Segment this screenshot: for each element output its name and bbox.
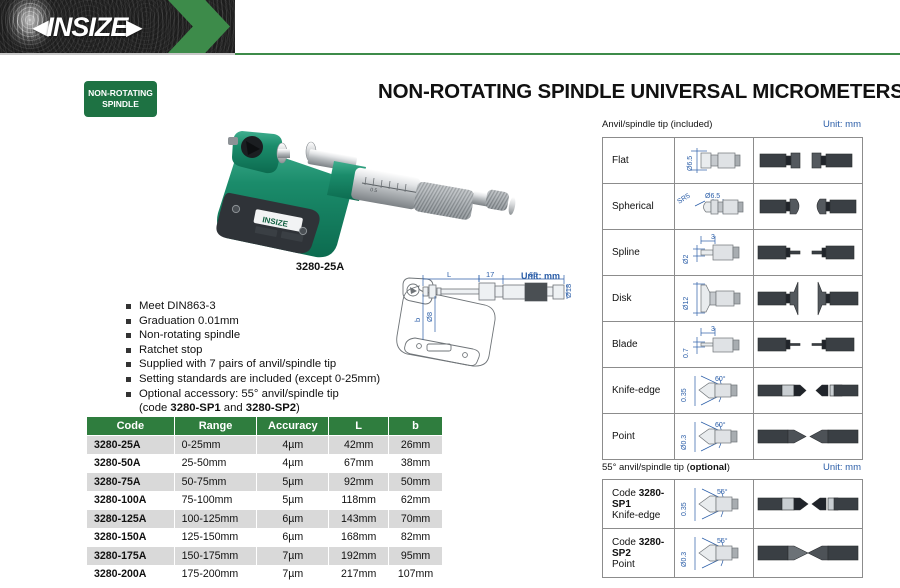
logo-wordmark: INSIZE bbox=[46, 12, 127, 43]
cell-accuracy: 4µm bbox=[257, 454, 329, 473]
list-item: Setting standards are included (except 0… bbox=[126, 372, 396, 387]
optional-accessory-line1: Optional accessory: 55° anvil/spindle ti… bbox=[139, 388, 339, 400]
knife-edge-tip-pair-icon bbox=[754, 368, 862, 413]
tip-name: Flat bbox=[603, 138, 675, 184]
tip-dimension-drawing: Ø0.3 55° bbox=[675, 529, 754, 578]
code-prefix: Code bbox=[612, 488, 639, 499]
micrometer-dimension-diagram: L 17 66 b Ø8 Ø18 bbox=[395, 270, 575, 375]
tip-pair-drawing bbox=[754, 322, 863, 368]
cell-accuracy: 5µm bbox=[257, 491, 329, 510]
tips-optional-heading: 55° anvil/spindle tip (optional) bbox=[602, 462, 730, 473]
tip-pair-drawing bbox=[754, 414, 863, 460]
cell-l: 92mm bbox=[329, 473, 389, 492]
tips-included-heading: Anvil/spindle tip (included) bbox=[602, 119, 712, 130]
cell-b: 26mm bbox=[389, 436, 443, 455]
tip-pair-drawing bbox=[754, 230, 863, 276]
tip-name: Spline bbox=[603, 230, 675, 276]
table-header-row: Code Range Accuracy L b bbox=[87, 417, 443, 436]
tips-included-table: Flat Ø6.5 bbox=[602, 137, 863, 460]
dim-label-dia18: Ø18 bbox=[564, 284, 573, 298]
cell-b: 62mm bbox=[389, 491, 443, 510]
cell-b: 38mm bbox=[389, 454, 443, 473]
tip-row-spherical: Spherical SR5 Ø6.5 bbox=[603, 184, 863, 230]
tips-optional-heading-bold: optional bbox=[690, 462, 727, 473]
table-row: 3280-175A 150-175mm 7µm 192mm 95mm bbox=[87, 547, 443, 566]
tip-row-knife-edge: Knife-edge 0.35 60° bbox=[603, 368, 863, 414]
tip-pair-drawing bbox=[754, 184, 863, 230]
cell-accuracy: 7µm bbox=[257, 565, 329, 584]
disk-tip-pair-icon bbox=[754, 276, 862, 321]
code-sp1: 3280-SP1 bbox=[170, 402, 220, 414]
cell-range: 50-75mm bbox=[174, 473, 257, 492]
tip-code-and-name: Code 3280-SP2 Point bbox=[603, 529, 675, 578]
cell-code: 3280-50A bbox=[87, 454, 175, 473]
spline-tip-dimension-icon: 3 Ø2 bbox=[675, 230, 753, 275]
cell-l: 192mm bbox=[329, 547, 389, 566]
header-gray-rule bbox=[0, 53, 235, 55]
list-item: Graduation 0.01mm bbox=[126, 314, 396, 329]
cell-b: 95mm bbox=[389, 547, 443, 566]
tip-dimension-drawing: 0.35 60° bbox=[675, 368, 754, 414]
tip-code-and-name: Code 3280-SP1 Knife-edge bbox=[603, 480, 675, 529]
dim-text: 0.35 bbox=[681, 502, 688, 516]
tips-optional-heading-post: ) bbox=[727, 462, 730, 473]
tips-included-unit: Unit: mm bbox=[823, 119, 861, 130]
dim-text-2: 3 bbox=[711, 234, 715, 241]
point-tip-pair-icon bbox=[754, 414, 862, 459]
disk-tip-dimension-icon: Ø12 bbox=[675, 276, 753, 321]
table-row: 3280-25A 0-25mm 4µm 42mm 26mm bbox=[87, 436, 443, 455]
dim-label-dia8: Ø8 bbox=[425, 312, 434, 322]
tip-name: Point bbox=[603, 414, 675, 460]
optional-tip-row-sp1: Code 3280-SP1 Knife-edge 0.35 55° bbox=[603, 480, 863, 529]
cell-accuracy: 4µm bbox=[257, 436, 329, 455]
badge-line-1: NON-ROTATING bbox=[88, 88, 153, 99]
page-title: NON-ROTATING SPINDLE UNIVERSAL MICROMETE… bbox=[378, 80, 900, 104]
cell-accuracy: 5µm bbox=[257, 473, 329, 492]
cell-l: 168mm bbox=[329, 528, 389, 547]
column-header-l: L bbox=[329, 417, 389, 436]
flat-tip-pair-icon bbox=[754, 138, 862, 183]
column-header-code: Code bbox=[87, 417, 175, 436]
dim-text-2: Ø6.5 bbox=[705, 193, 720, 200]
tip-row-blade: Blade 3 0.7 bbox=[603, 322, 863, 368]
cell-range: 75-100mm bbox=[174, 491, 257, 510]
tip-dimension-drawing: 0.35 55° bbox=[675, 480, 754, 529]
spherical-tip-pair-icon bbox=[754, 184, 862, 229]
insize-logo: ◀INSIZE▶ bbox=[33, 12, 141, 43]
tip-row-disk: Disk Ø12 bbox=[603, 276, 863, 322]
page-header: ◀INSIZE▶ bbox=[0, 0, 900, 56]
cell-accuracy: 7µm bbox=[257, 547, 329, 566]
tip-name: Knife-edge bbox=[603, 368, 675, 414]
list-item: Meet DIN863-3 bbox=[126, 299, 396, 314]
cell-range: 100-125mm bbox=[174, 510, 257, 529]
dim-text: Ø0.3 bbox=[681, 552, 688, 567]
knife-edge-tip-dimension-icon: 0.35 60° bbox=[675, 368, 753, 413]
blade-tip-pair-icon bbox=[754, 322, 862, 367]
flat-tip-dimension-icon: Ø6.5 bbox=[675, 138, 753, 183]
table-row: 3280-100A 75-100mm 5µm 118mm 62mm bbox=[87, 491, 443, 510]
cell-l: 143mm bbox=[329, 510, 389, 529]
dimension-drawing: L 17 66 b Ø8 Ø18 bbox=[395, 270, 575, 375]
code-sp2: 3280-SP2 bbox=[246, 402, 296, 414]
dim-label-17: 17 bbox=[486, 270, 494, 279]
table-row: 3280-50A 25-50mm 4µm 67mm 38mm bbox=[87, 454, 443, 473]
sp2-point-dimension-icon: Ø0.3 55° bbox=[675, 529, 753, 577]
table-row: 3280-75A 50-75mm 5µm 92mm 50mm bbox=[87, 473, 443, 492]
tip-pair-drawing bbox=[754, 480, 863, 529]
product-photo: INSIZE 0 5 bbox=[190, 105, 580, 265]
svg-text:0 5: 0 5 bbox=[370, 187, 378, 194]
dim-text: Ø2 bbox=[683, 255, 690, 264]
tip-dimension-drawing: Ø6.5 bbox=[675, 138, 754, 184]
sp1-knife-edge-dimension-icon: 0.35 55° bbox=[675, 480, 753, 528]
code-suffix: ) bbox=[296, 402, 300, 414]
logo-right-arrow-icon: ▶ bbox=[126, 15, 140, 40]
optional-accessory-line2: (code 3280-SP1 and 3280-SP2) bbox=[139, 402, 300, 414]
list-item: Non-rotating spindle bbox=[126, 328, 396, 343]
feature-list: Meet DIN863-3 Graduation 0.01mm Non-rota… bbox=[86, 299, 396, 416]
tip-row-point: Point Ø0.3 60° bbox=[603, 414, 863, 460]
column-header-accuracy: Accuracy bbox=[257, 417, 329, 436]
spherical-tip-dimension-icon: SR5 Ø6.5 bbox=[675, 184, 753, 229]
cell-b: 82mm bbox=[389, 528, 443, 547]
cell-code: 3280-125A bbox=[87, 510, 175, 529]
dim-label-b: b bbox=[413, 318, 422, 322]
list-item: Ratchet stop bbox=[126, 343, 396, 358]
tip-row-flat: Flat Ø6.5 bbox=[603, 138, 863, 184]
cell-code: 3280-200A bbox=[87, 565, 175, 584]
cell-accuracy: 6µm bbox=[257, 510, 329, 529]
dim-text: 0.7 bbox=[683, 348, 690, 358]
cell-range: 25-50mm bbox=[174, 454, 257, 473]
table-row: 3280-125A 100-125mm 6µm 143mm 70mm bbox=[87, 510, 443, 529]
sp2-point-pair-icon bbox=[754, 529, 862, 577]
dim-text: 0.35 bbox=[681, 388, 688, 402]
cell-l: 42mm bbox=[329, 436, 389, 455]
tip-pair-drawing bbox=[754, 529, 863, 578]
cell-b: 107mm bbox=[389, 565, 443, 584]
tips-optional-heading-pre: 55° anvil/spindle tip ( bbox=[602, 462, 690, 473]
cell-code: 3280-25A bbox=[87, 436, 175, 455]
dim-text: Ø12 bbox=[683, 297, 690, 310]
cell-b: 50mm bbox=[389, 473, 443, 492]
code-conjunction: and bbox=[221, 402, 246, 414]
cell-code: 3280-175A bbox=[87, 547, 175, 566]
tip-dimension-drawing: Ø12 bbox=[675, 276, 754, 322]
tip-row-spline: Spline 3 Ø2 bbox=[603, 230, 863, 276]
tip-name: Point bbox=[612, 559, 635, 570]
tip-pair-drawing bbox=[754, 276, 863, 322]
cell-range: 0-25mm bbox=[174, 436, 257, 455]
tip-name: Disk bbox=[603, 276, 675, 322]
column-header-range: Range bbox=[174, 417, 257, 436]
table-row: 3280-200A 175-200mm 7µm 217mm 107mm bbox=[87, 565, 443, 584]
cell-code: 3280-100A bbox=[87, 491, 175, 510]
list-item-optional-accessory: Optional accessory: 55° anvil/spindle ti… bbox=[126, 387, 396, 416]
column-header-b: b bbox=[389, 417, 443, 436]
dim-label-66: 66 bbox=[529, 270, 537, 279]
optional-tip-row-sp2: Code 3280-SP2 Point Ø0.3 55° bbox=[603, 529, 863, 578]
tip-name: Blade bbox=[603, 322, 675, 368]
cell-l: 217mm bbox=[329, 565, 389, 584]
tip-dimension-drawing: Ø0.3 60° bbox=[675, 414, 754, 460]
blade-tip-dimension-icon: 3 0.7 bbox=[675, 322, 753, 367]
tip-name: Spherical bbox=[603, 184, 675, 230]
cell-range: 125-150mm bbox=[174, 528, 257, 547]
dim-text: Ø6.5 bbox=[687, 156, 694, 171]
cell-b: 70mm bbox=[389, 510, 443, 529]
dim-label-L: L bbox=[447, 270, 451, 279]
dim-text-2: 3 bbox=[711, 326, 715, 333]
cell-l: 67mm bbox=[329, 454, 389, 473]
tip-dimension-drawing: 3 Ø2 bbox=[675, 230, 754, 276]
badge-line-2: SPINDLE bbox=[102, 99, 139, 110]
point-tip-dimension-icon: Ø0.3 60° bbox=[675, 414, 753, 459]
specifications-table: Code Range Accuracy L b 3280-25A 0-25mm … bbox=[86, 416, 443, 584]
tip-name: Knife-edge bbox=[612, 510, 660, 521]
tips-optional-table: Code 3280-SP1 Knife-edge 0.35 55° bbox=[602, 479, 863, 578]
spline-tip-pair-icon bbox=[754, 230, 862, 275]
table-row: 3280-150A 125-150mm 6µm 168mm 82mm bbox=[87, 528, 443, 547]
cell-accuracy: 6µm bbox=[257, 528, 329, 547]
tip-dimension-drawing: 3 0.7 bbox=[675, 322, 754, 368]
tip-pair-drawing bbox=[754, 368, 863, 414]
tip-pair-drawing bbox=[754, 138, 863, 184]
cell-code: 3280-75A bbox=[87, 473, 175, 492]
dim-text: Ø0.3 bbox=[681, 435, 688, 450]
dim-text: SR5 bbox=[676, 192, 691, 205]
cell-range: 175-200mm bbox=[174, 565, 257, 584]
tip-dimension-drawing: SR5 Ø6.5 bbox=[675, 184, 754, 230]
sp1-knife-edge-pair-icon bbox=[754, 480, 862, 528]
cell-code: 3280-150A bbox=[87, 528, 175, 547]
micrometer-illustration: INSIZE 0 5 bbox=[190, 105, 580, 265]
tips-optional-unit: Unit: mm bbox=[823, 462, 861, 473]
cell-l: 118mm bbox=[329, 491, 389, 510]
cell-range: 150-175mm bbox=[174, 547, 257, 566]
list-item: Supplied with 7 pairs of anvil/spindle t… bbox=[126, 357, 396, 372]
code-prefix: (code bbox=[139, 402, 170, 414]
code-prefix: Code bbox=[612, 537, 639, 548]
non-rotating-spindle-badge: NON-ROTATING SPINDLE bbox=[84, 81, 157, 117]
